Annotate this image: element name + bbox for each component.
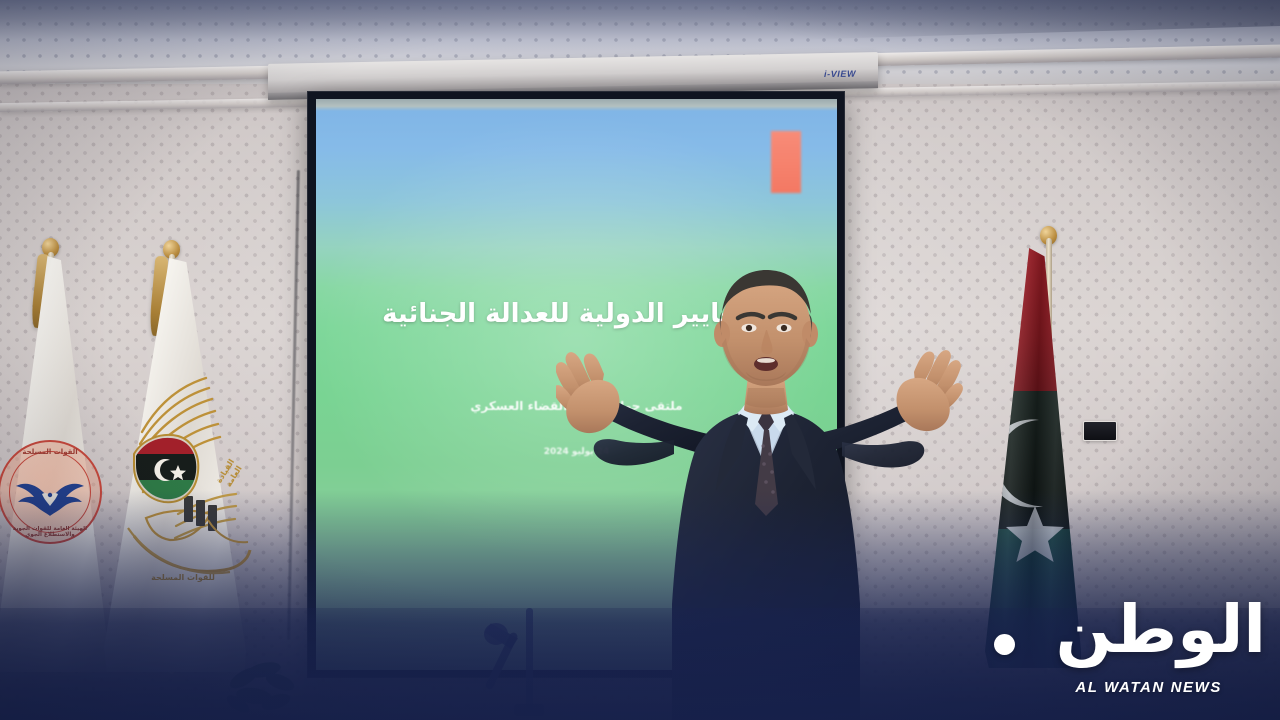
screen-top-band (316, 99, 837, 111)
wall-mounted-control-panel[interactable] (1083, 421, 1117, 441)
photo-scene: i-VIEW المعايير الدولية للعدالة الجنائية… (0, 0, 1280, 720)
screen-brand-label: i-VIEW (824, 69, 856, 79)
general-command-crest: القيادة العامة للقوات المسلحة (112, 368, 254, 600)
eagle-icon (12, 470, 88, 518)
speaker-figure (556, 268, 976, 720)
slide-accent-bar (771, 131, 801, 193)
armed-forces-circular-crest: القوات المسلحة الهيئة العامة للقوات الجو… (0, 440, 102, 544)
potted-plant (210, 612, 320, 720)
crest-lower-text: للقوات المسلحة (112, 573, 254, 582)
crest-bottom-text: الهيئة العامة للقوات الجوية والاستطلاع ا… (0, 526, 102, 538)
podium-microphone (470, 600, 580, 720)
crest-top-text: القوات المسلحة (0, 448, 102, 456)
